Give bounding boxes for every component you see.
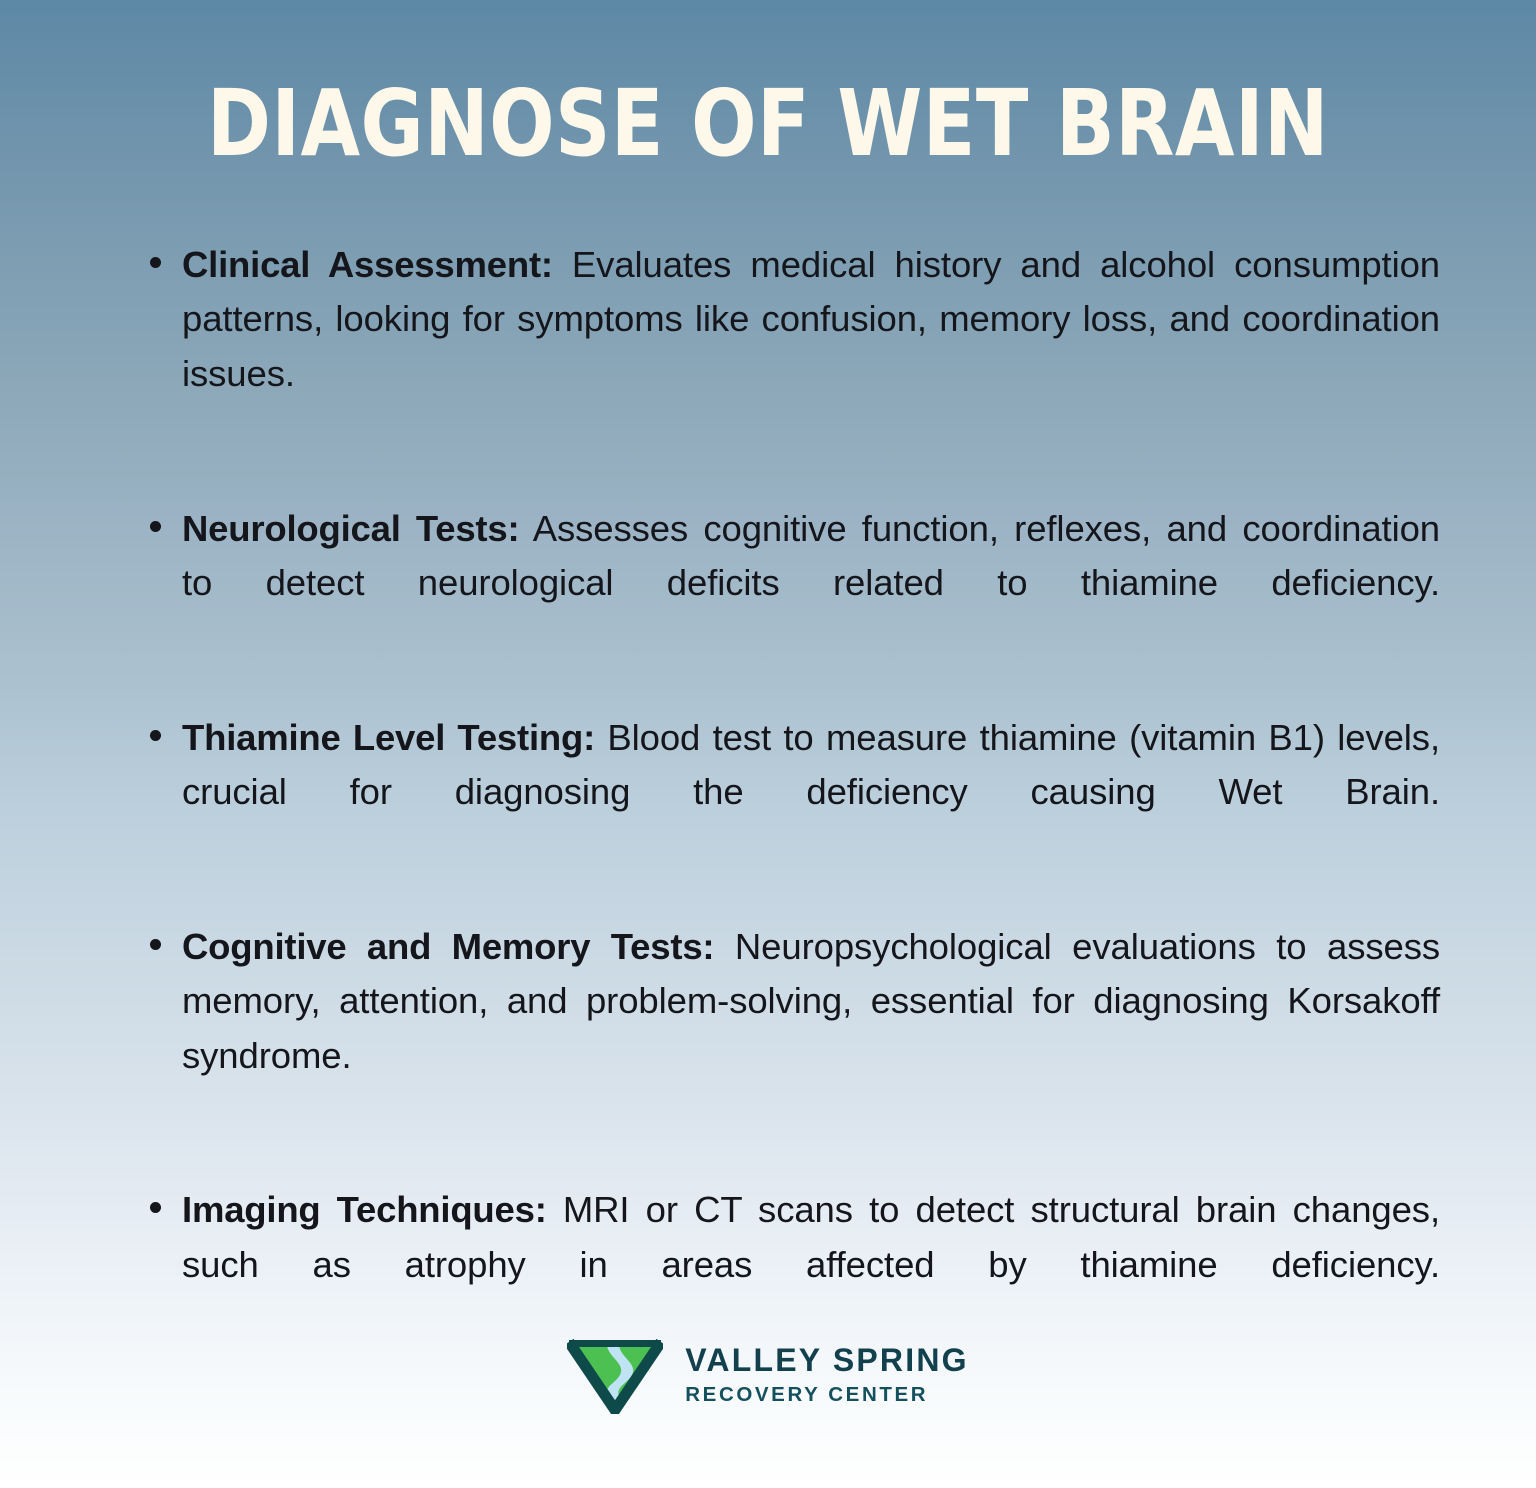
brand-name: VALLEY SPRING [685,1343,968,1379]
bullet-dot-icon [150,1202,161,1213]
list-item-content: Imaging Techniques: MRI or CT scans to d… [182,1189,1440,1339]
bullet-dot-icon [150,257,161,268]
brand-logo: VALLEY SPRING RECOVERY CENTER [0,1338,1536,1414]
list-item-content: Clinical Assessment: Evaluates medical h… [182,244,1440,448]
list-item-term: Cognitive and Memory Tests: [182,926,714,967]
bullet-dot-icon [150,939,161,950]
list-item: Clinical Assessment: Evaluates medical h… [140,238,1440,456]
bullet-dot-icon [150,730,161,741]
brand-subtitle: RECOVERY CENTER [685,1383,968,1408]
infographic-canvas: DIAGNOSE OF WET BRAIN Clinical Assessmen… [0,0,1536,1488]
diagnosis-methods-list: Clinical Assessment: Evaluates medical h… [140,238,1440,1346]
bullet-dot-icon [150,521,161,532]
list-item-content: Cognitive and Memory Tests: Neuropsychol… [182,926,1440,1130]
valley-spring-triangle-logo-icon [567,1338,663,1414]
list-item: Imaging Techniques: MRI or CT scans to d… [140,1183,1440,1346]
page-title: DIAGNOSE OF WET BRAIN [54,78,1482,170]
list-item-term: Imaging Techniques: [182,1189,547,1230]
list-item-content: Thiamine Level Testing: Blood test to me… [182,717,1440,867]
list-item-content: Neurological Tests: Assesses cognitive f… [182,508,1440,658]
list-item: Neurological Tests: Assesses cognitive f… [140,502,1440,665]
list-item: Thiamine Level Testing: Blood test to me… [140,711,1440,874]
list-item-term: Neurological Tests: [182,508,519,549]
list-item-term: Clinical Assessment: [182,244,553,285]
brand-logo-text: VALLEY SPRING RECOVERY CENTER [685,1343,968,1409]
list-item: Cognitive and Memory Tests: Neuropsychol… [140,920,1440,1138]
list-item-term: Thiamine Level Testing: [182,717,595,758]
